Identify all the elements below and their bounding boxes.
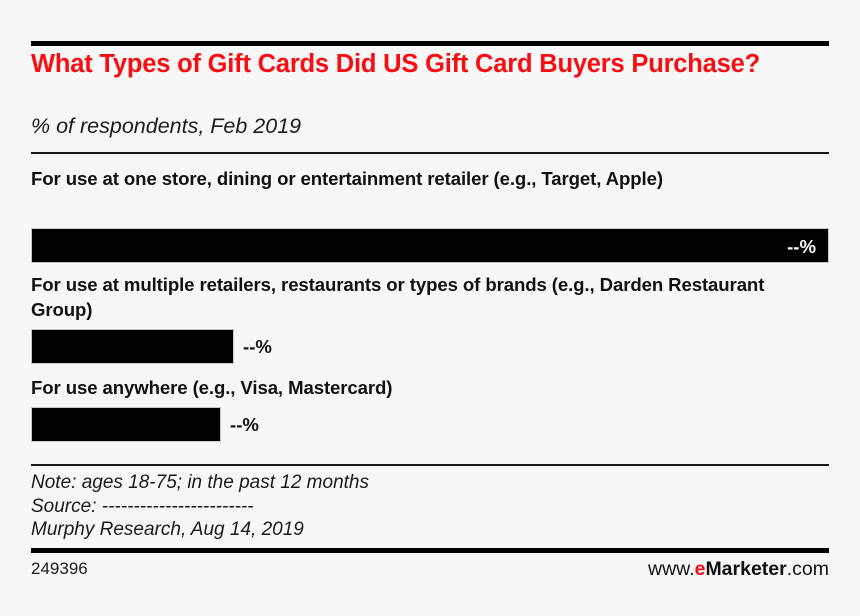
bar-value-label: --% [230,407,259,442]
bar-fill: --% [31,228,829,263]
source-text: Source: ------------------------ [31,495,791,519]
bar-value-label: --% [787,229,816,264]
logo-com-suffix: .com [787,558,829,580]
bar-track: --% [31,329,829,364]
bar-category-label: For use anywhere (e.g., Visa, Mastercard… [31,375,821,400]
chart-id: 249396 [31,558,88,580]
bar-category-label: For use at multiple retailers, restauran… [31,272,821,322]
bar-category-label: For use at one store, dining or entertai… [31,166,821,191]
footnote-divider [31,464,829,466]
subtitle-divider [31,152,829,154]
bar-fill [31,329,234,364]
bar-track: --% [31,407,829,442]
note-text: Note: ages 18-75; in the past 12 months [31,471,791,495]
source-continued-text: Murphy Research, Aug 14, 2019 [31,518,791,542]
bottom-divider [31,548,829,553]
bar-track: --% [31,228,829,263]
chart-title: What Types of Gift Cards Did US Gift Car… [31,49,771,79]
footer-row: 249396 www.eMarketer.com [31,558,829,584]
emarketer-logo: www.eMarketer.com [648,558,829,580]
top-divider [31,41,829,46]
logo-e-letter: e [695,558,706,580]
logo-www-prefix: www. [648,558,695,580]
logo-brand-name: Marketer [705,558,786,580]
footnotes: Note: ages 18-75; in the past 12 months … [31,471,791,542]
bar-value-label: --% [243,329,272,364]
chart-subtitle: % of respondents, Feb 2019 [31,113,731,139]
chart-card: What Types of Gift Cards Did US Gift Car… [0,0,860,616]
bar-fill [31,407,221,442]
